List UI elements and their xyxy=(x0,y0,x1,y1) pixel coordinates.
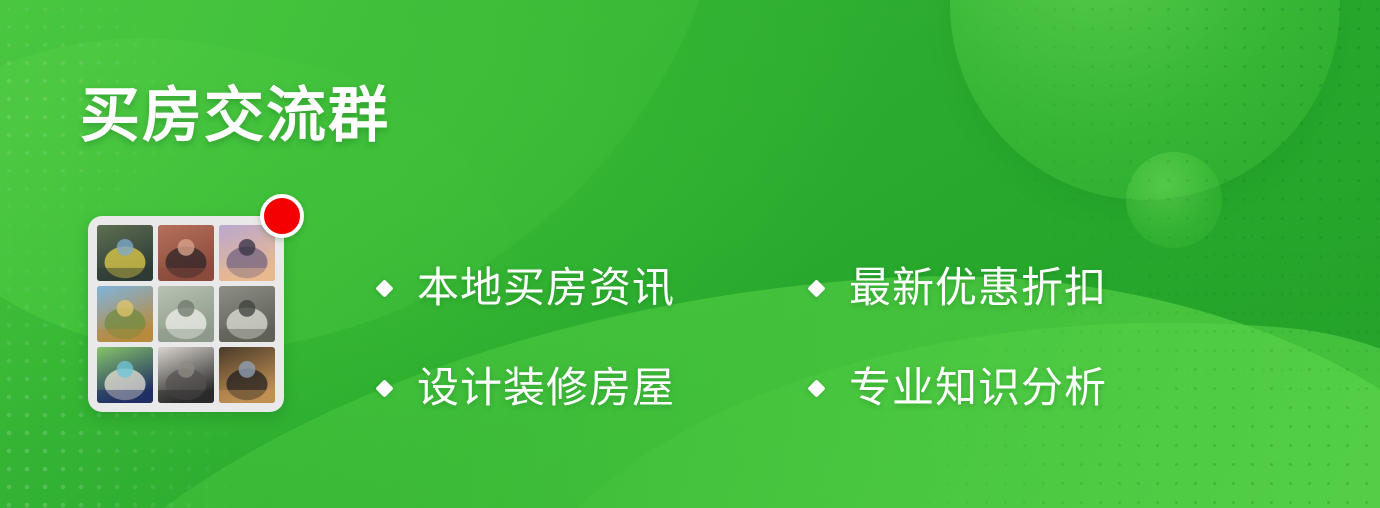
avatar-3 xyxy=(219,225,275,281)
diamond-bullet-icon xyxy=(807,279,825,297)
feature-label: 专业知识分析 xyxy=(849,367,1107,409)
avatar-8 xyxy=(158,347,214,403)
feature-expert-analysis: 专业知识分析 xyxy=(810,367,1107,409)
avatar-6 xyxy=(219,286,275,342)
avatar-2 xyxy=(158,225,214,281)
diamond-bullet-icon xyxy=(375,379,393,397)
avatar-4 xyxy=(97,286,153,342)
avatar-7 xyxy=(97,347,153,403)
avatar-5 xyxy=(158,286,214,342)
avatar-grid[interactable] xyxy=(88,216,284,412)
feature-label: 本地买房资讯 xyxy=(417,267,675,309)
feature-list: 本地买房资讯最新优惠折扣设计装修房屋专业知识分析 xyxy=(378,238,1107,438)
feature-design-renovate: 设计装修房屋 xyxy=(378,367,810,409)
avatar-9 xyxy=(219,347,275,403)
unread-badge xyxy=(260,194,304,238)
avatar-1 xyxy=(97,225,153,281)
buy-house-chat-group-banner: 买房交流群 本地买房资讯最新优惠折扣设计装修房屋专业知识分析 xyxy=(0,0,1380,508)
diamond-bullet-icon xyxy=(375,279,393,297)
feature-label: 设计装修房屋 xyxy=(417,367,675,409)
feature-latest-deals: 最新优惠折扣 xyxy=(810,267,1107,309)
banner-content: 买房交流群 本地买房资讯最新优惠折扣设计装修房屋专业知识分析 xyxy=(0,0,1380,508)
feature-local-news: 本地买房资讯 xyxy=(378,267,810,309)
diamond-bullet-icon xyxy=(807,379,825,397)
feature-label: 最新优惠折扣 xyxy=(849,267,1107,309)
banner-title: 买房交流群 xyxy=(80,86,390,146)
